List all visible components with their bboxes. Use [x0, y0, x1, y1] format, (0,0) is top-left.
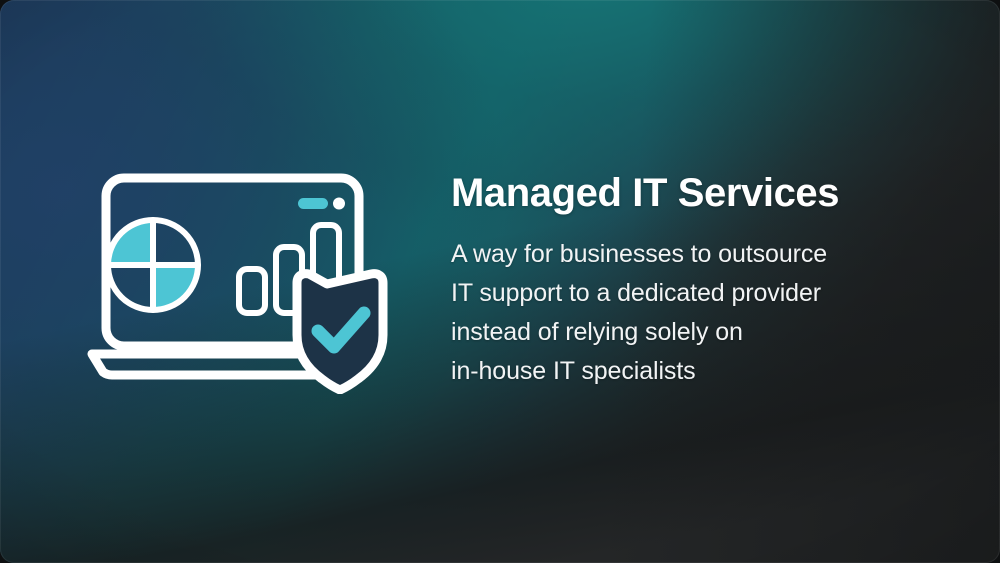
managed-it-services-illustration — [84, 168, 396, 394]
description-line-3: instead of relying solely on — [451, 313, 921, 352]
description-line-4: in-house IT specialists — [451, 352, 921, 391]
pie-chart — [108, 220, 198, 310]
page-title: Managed IT Services — [451, 172, 921, 215]
status-dot — [333, 198, 345, 210]
slide-content: Managed IT Services A way for businesses… — [0, 0, 1000, 563]
security-shield — [297, 274, 383, 390]
bar-1 — [239, 269, 265, 313]
status-indicators — [298, 198, 345, 210]
text-block: Managed IT Services A way for businesses… — [451, 172, 921, 390]
status-pill — [298, 198, 328, 209]
description-paragraph: A way for businesses to outsource IT sup… — [451, 235, 921, 390]
description-line-2: IT support to a dedicated provider — [451, 274, 921, 313]
slide-canvas: Managed IT Services A way for businesses… — [0, 0, 1000, 563]
description-line-1: A way for businesses to outsource — [451, 235, 921, 274]
